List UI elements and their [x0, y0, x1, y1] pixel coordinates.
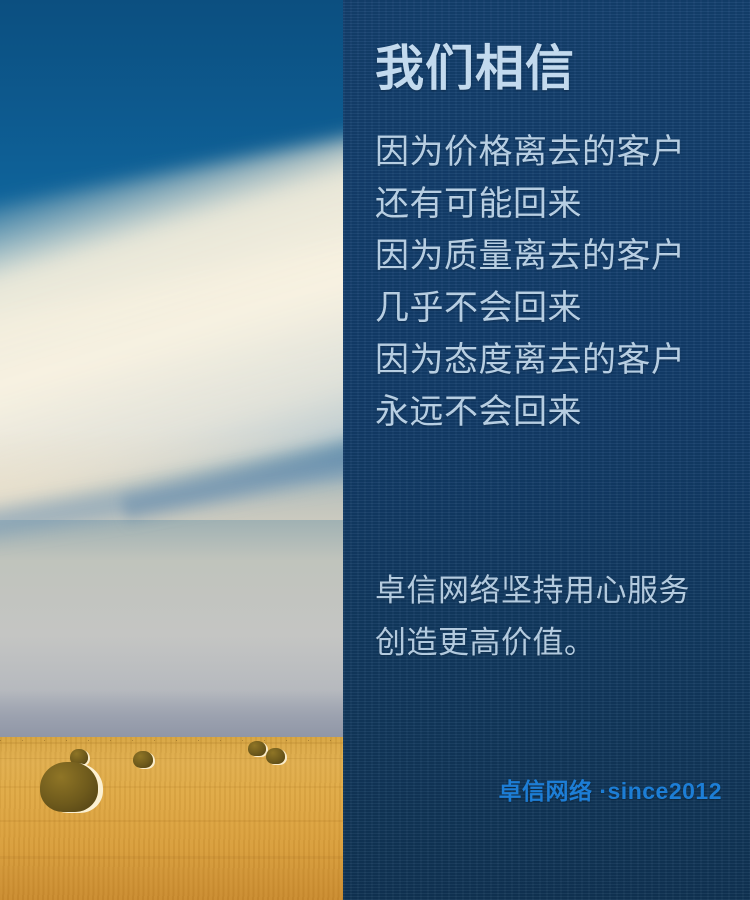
- field-texture: [0, 737, 343, 900]
- hay-bale: [133, 751, 153, 768]
- headline: 我们相信: [375, 42, 575, 97]
- hay-bale-foreground: [40, 762, 98, 812]
- closing-block: 卓信网络坚持用心服务 创造更高价值。: [375, 565, 735, 669]
- verse-line: 几乎不会回来: [375, 282, 735, 334]
- verse-line: 还有可能回来: [375, 178, 735, 230]
- text-panel: 我们相信 因为价格离去的客户 还有可能回来 因为质量离去的客户 几乎不会回来 因…: [343, 0, 750, 900]
- verse-line: 因为质量离去的客户: [375, 230, 735, 282]
- closing-line: 卓信网络坚持用心服务: [375, 565, 735, 617]
- closing-line: 创造更高价值。: [375, 617, 735, 669]
- hay-bale: [248, 741, 266, 756]
- hay-bale: [266, 748, 285, 764]
- brand-signature: 卓信网络 ·since2012: [498, 772, 722, 806]
- verse-line: 因为价格离去的客户: [375, 126, 735, 178]
- verse-block: 因为价格离去的客户 还有可能回来 因为质量离去的客户 几乎不会回来 因为态度离去…: [375, 126, 735, 438]
- verse-line: 永远不会回来: [375, 386, 735, 438]
- poster-root: 我们相信 因为价格离去的客户 还有可能回来 因为质量离去的客户 几乎不会回来 因…: [0, 0, 750, 900]
- field-stripe: [0, 856, 343, 859]
- verse-line: 因为态度离去的客户: [375, 334, 735, 386]
- horizon-haze: [0, 690, 343, 738]
- field-stripe: [0, 742, 343, 744]
- wheat-field-hay-bales-photo: [0, 0, 343, 900]
- field-stripe: [0, 758, 343, 759]
- fence-line: [0, 740, 343, 741]
- field-stripe: [0, 820, 343, 822]
